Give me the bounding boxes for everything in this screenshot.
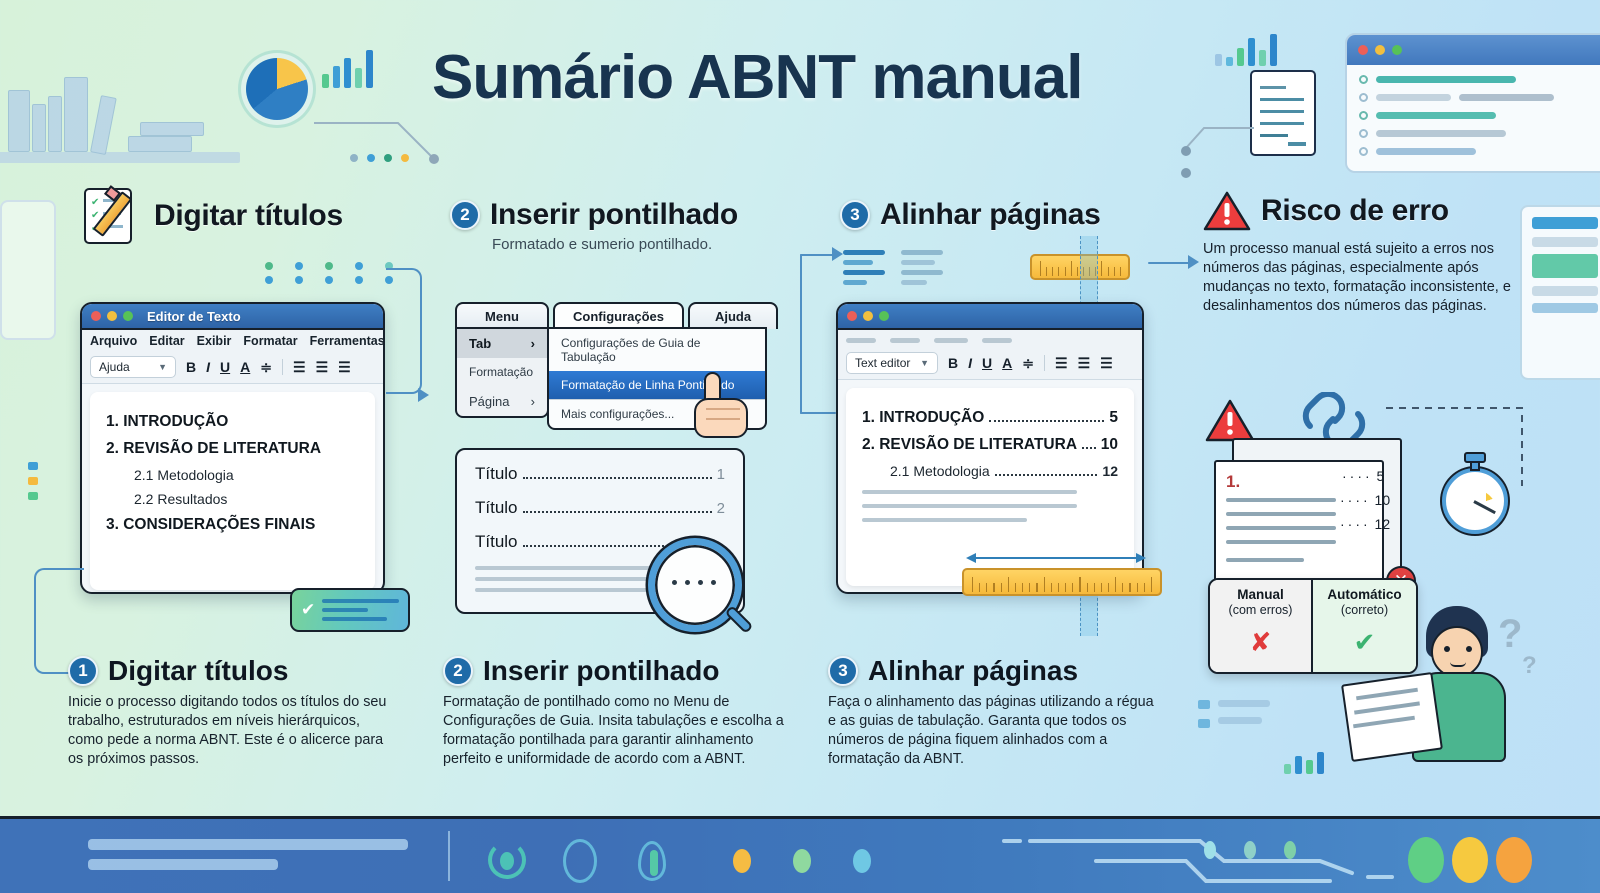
dot-leader	[523, 511, 712, 513]
menu-item-tab[interactable]: Tab ›	[457, 329, 547, 358]
window-title: Editor de Texto	[147, 309, 241, 324]
minimize-icon[interactable]	[107, 311, 117, 321]
arrow-to-step2	[418, 388, 429, 402]
doc-page-number: ···· 10	[1340, 492, 1390, 508]
decor-frame	[0, 200, 56, 340]
question-mark-icon: ?	[1498, 612, 1522, 657]
menu-bar-placeholder	[838, 330, 1142, 347]
menu-item-ferramentas[interactable]: Ferramentas	[310, 334, 385, 348]
header-title: Alinhar páginas	[880, 198, 1101, 232]
bar-chart-icon-right	[1215, 32, 1277, 66]
header-title: Digitar títulos	[154, 199, 343, 233]
dotted-row-label: Título	[475, 532, 518, 552]
comparison-title: Automático	[1313, 580, 1416, 603]
connector-step2-left	[800, 254, 802, 414]
maximize-icon[interactable]	[879, 311, 889, 321]
bottom-bar	[0, 816, 1600, 893]
menu-item-formatacao[interactable]: Formatação ›	[457, 358, 547, 387]
header-subtitle: Formatado e sumerio pontilhado.	[492, 236, 738, 253]
menu-item-editar[interactable]: Editar	[149, 334, 184, 348]
step-number-badge: 1	[68, 656, 98, 686]
arrow-to-risk	[1188, 255, 1199, 269]
pie-chart-icon	[246, 58, 308, 120]
dotted-row: Título 1	[475, 464, 725, 484]
decor-dot	[1496, 837, 1532, 883]
decor-dot	[1204, 841, 1216, 859]
numbered-list-icon[interactable]: ☰	[1078, 355, 1091, 372]
doc-marker: 1.	[1226, 472, 1240, 492]
check-badge-icon: ✔	[290, 588, 410, 632]
text-color-button[interactable]: A	[240, 359, 250, 375]
menu-left-panel[interactable]: Tab › Formatação › Página ›	[455, 327, 549, 418]
warning-triangle-icon	[1203, 190, 1251, 232]
connector-line-right	[1180, 118, 1266, 186]
comparison-title: Manual	[1210, 580, 1311, 603]
decor-dot	[793, 849, 811, 873]
header-title: Risco de erro	[1261, 194, 1449, 228]
header-step-1: ✔ ✔ ✔ Digitar títulos	[80, 186, 343, 246]
cross-icon: ✘	[1210, 623, 1311, 666]
magnifier-icon	[648, 538, 752, 642]
dot-leader	[1082, 447, 1096, 449]
step-block-1: 1 Digitar títulos Inicie o processo digi…	[68, 655, 398, 770]
step-number-badge: 2	[450, 200, 480, 230]
poster-canvas: Sumário ABNT manual ✔ ✔ ✔ Digitar título…	[0, 0, 1600, 893]
decor-dot	[1284, 841, 1296, 859]
tab-ajuda[interactable]: Ajuda	[688, 302, 778, 329]
decor-dots-step1	[265, 262, 393, 270]
menu-item-label: Página	[469, 394, 509, 409]
underline-button[interactable]: U	[220, 359, 230, 375]
menu-item-arquivo[interactable]: Arquivo	[90, 334, 137, 348]
bar-chart-icon	[322, 48, 373, 88]
bullet-list-icon[interactable]: ☰	[293, 359, 306, 376]
toc-entry-page: 10	[1101, 436, 1118, 454]
question-mark-icon: ?	[1522, 652, 1537, 680]
page-title: Sumário ABNT manual	[432, 42, 1082, 113]
header-step-3: 3 Alinhar páginas	[840, 198, 1101, 232]
bar-chart-icon-bottom	[1284, 748, 1324, 774]
toolbar-divider	[1044, 355, 1045, 371]
bold-button[interactable]: B	[948, 355, 958, 371]
step-block-2: 2 Inserir pontilhado Formatação de ponti…	[443, 655, 798, 770]
style-select-value: Ajuda	[99, 360, 130, 374]
chevron-right-icon: ›	[531, 336, 535, 351]
menu-item-label: Formatação	[469, 365, 533, 380]
browser-window-icon	[1345, 33, 1600, 173]
doc-page-number: ···· 12	[1340, 516, 1390, 532]
menu-tabs[interactable]: Menu Configurações Ajuda	[455, 302, 778, 329]
chevron-down-icon: ▼	[158, 362, 167, 372]
decor-dot	[1408, 837, 1444, 883]
italic-button[interactable]: I	[968, 355, 972, 371]
comparison-card: Manual (com erros) ✘ Automático (correto…	[1208, 578, 1418, 674]
header-risk: Risco de erro Um processo manual está su…	[1203, 190, 1533, 317]
step-number-badge: 3	[828, 656, 858, 686]
connector-step3-right	[1148, 262, 1192, 264]
window-titlebar: Editor de Texto	[82, 304, 383, 330]
menu-item-tab-settings[interactable]: Configurações de Guia de Tabulação	[549, 329, 765, 371]
toc-entry-label: 2. REVISÃO DE LITERATURA	[862, 436, 1077, 454]
dotted-row: Título 2	[475, 498, 725, 518]
menu-item-exibir[interactable]: Exibir	[197, 334, 232, 348]
bookshelf-icon	[0, 48, 248, 163]
pointing-hand-icon	[690, 368, 762, 440]
toc-entry-page: 12	[1102, 463, 1118, 479]
multilevel-list-icon[interactable]: ☰	[1100, 355, 1113, 372]
dotted-row-page: 2	[717, 500, 725, 517]
step-number-badge: 3	[840, 200, 870, 230]
step-title: Alinhar páginas	[868, 655, 1078, 687]
chevron-down-icon: ▼	[920, 358, 929, 368]
toc-entry: 1. INTRODUÇÃO 5	[862, 409, 1118, 427]
menu-item-label: Tab	[469, 336, 491, 351]
tab-menu[interactable]: Menu	[455, 302, 549, 329]
toc-entry-label: 1. INTRODUÇÃO	[862, 409, 984, 427]
menu-item-formatar[interactable]: Formatar	[243, 334, 297, 348]
comparison-column-manual: Manual (com erros) ✘	[1210, 580, 1313, 672]
outline-item: 2.1 Metodologia	[134, 467, 359, 483]
bullet-list-icon[interactable]: ☰	[1055, 355, 1068, 372]
connector-step2-in	[800, 412, 836, 414]
stopwatch-icon	[1434, 452, 1514, 536]
style-select[interactable]: Text editor ▼	[846, 352, 938, 374]
menu-bar[interactable]: Arquivo Editar Exibir Formatar Ferrament…	[82, 330, 383, 351]
toc-entry: 2.1 Metodologia 12	[890, 463, 1118, 480]
decor-leaf-icon	[638, 841, 666, 881]
connector-step1-right	[386, 268, 422, 394]
ruler-icon-bottom	[962, 568, 1162, 596]
document-page: 1. INTRODUÇÃO 2. REVISÃO DE LITERATURA 2…	[90, 392, 375, 590]
step-number-badge: 2	[443, 656, 473, 686]
decor-ellipse-icon	[563, 839, 597, 883]
confused-person-icon: ? ?	[1398, 606, 1548, 796]
toolbar[interactable]: Text editor ▼ B I U A ≑ ☰ ☰ ☰	[838, 347, 1142, 380]
decor-dots-left	[28, 462, 38, 500]
step-title: Digitar títulos	[108, 655, 288, 687]
strikethrough-button[interactable]: ≑	[260, 359, 272, 376]
menu-item-pagina[interactable]: Página ›	[457, 387, 547, 416]
header-title: Inserir pontilhado	[490, 198, 738, 232]
connector-line	[312, 105, 452, 175]
maximize-icon[interactable]	[123, 311, 133, 321]
italic-button[interactable]: I	[206, 359, 210, 375]
doc-page-number: ···· 5	[1342, 468, 1384, 484]
bold-button[interactable]: B	[186, 359, 196, 375]
dot-leader	[989, 420, 1104, 422]
checklist-pencil-icon: ✔ ✔ ✔	[80, 186, 144, 246]
toolbar-divider	[282, 359, 283, 375]
toolbar[interactable]: Ajuda ▼ B I U A ≑ ☰ ☰ ☰	[82, 351, 383, 384]
decor-dot	[853, 849, 871, 873]
step-description: Faça o alinhamento das páginas utilizand…	[828, 693, 1158, 770]
arrow-to-step3	[832, 247, 843, 261]
minimize-icon[interactable]	[863, 311, 873, 321]
outline-item: 1. INTRODUÇÃO	[106, 413, 359, 431]
step-description: Inicie o processo digitando todos os tít…	[68, 693, 398, 770]
decor-dot	[733, 849, 751, 873]
align-bars-icon	[843, 250, 943, 285]
menu-item-label: Mais configurações...	[561, 407, 674, 421]
step-description: Formatação de pontilhado como no Menu de…	[443, 693, 798, 770]
comparison-subtitle: (com erros)	[1210, 603, 1311, 623]
close-icon[interactable]	[847, 311, 857, 321]
multilevel-list-icon[interactable]: ☰	[338, 359, 351, 376]
style-select-value: Text editor	[855, 356, 910, 370]
step-block-3: 3 Alinhar páginas Faça o alinhamento das…	[828, 655, 1158, 770]
tab-configuracoes[interactable]: Configurações	[553, 302, 684, 329]
menu-item-label: Configurações de Guia de Tabulação	[561, 336, 753, 364]
toc-entry: 2. REVISÃO DE LITERATURA 10	[862, 436, 1118, 454]
toc-entry-page: 5	[1109, 409, 1118, 427]
outline-item: 2.2 Resultados	[134, 491, 359, 507]
measure-arrow	[966, 548, 1146, 568]
toc-entry-label: 2.1 Metodologia	[890, 463, 990, 479]
text-color-button[interactable]: A	[1002, 355, 1012, 371]
numbered-list-icon[interactable]: ☰	[316, 359, 329, 376]
decor-dots-step1b	[265, 276, 393, 284]
decor-dot	[1244, 841, 1256, 859]
decor-dots	[350, 154, 409, 162]
dotted-row-label: Título	[475, 498, 518, 518]
decor-lines-right	[1218, 700, 1270, 724]
underline-button[interactable]: U	[982, 355, 992, 371]
window-titlebar	[838, 304, 1142, 330]
outline-item: 3. CONSIDERAÇÕES FINAIS	[106, 516, 359, 534]
dot-leader	[995, 474, 1098, 476]
style-select[interactable]: Ajuda ▼	[90, 356, 176, 378]
dotted-row-page: 1	[717, 466, 725, 483]
chevron-right-icon: ›	[531, 394, 535, 409]
text-editor-window[interactable]: Editor de Texto Arquivo Editar Exibir Fo…	[80, 302, 385, 594]
outline-item: 2. REVISÃO DE LITERATURA	[106, 440, 359, 458]
risk-description: Um processo manual está sujeito a erros …	[1203, 240, 1533, 317]
header-step-2: 2 Inserir pontilhado Formatado e sumerio…	[450, 198, 738, 253]
strikethrough-button[interactable]: ≑	[1022, 355, 1034, 372]
dot-leader	[523, 477, 712, 479]
decor-dot	[1452, 837, 1488, 883]
dotted-row-label: Título	[475, 464, 518, 484]
close-icon[interactable]	[91, 311, 101, 321]
step-title: Inserir pontilhado	[483, 655, 719, 687]
decor-list-right	[1198, 700, 1210, 728]
decor-circle-icon	[488, 841, 526, 879]
